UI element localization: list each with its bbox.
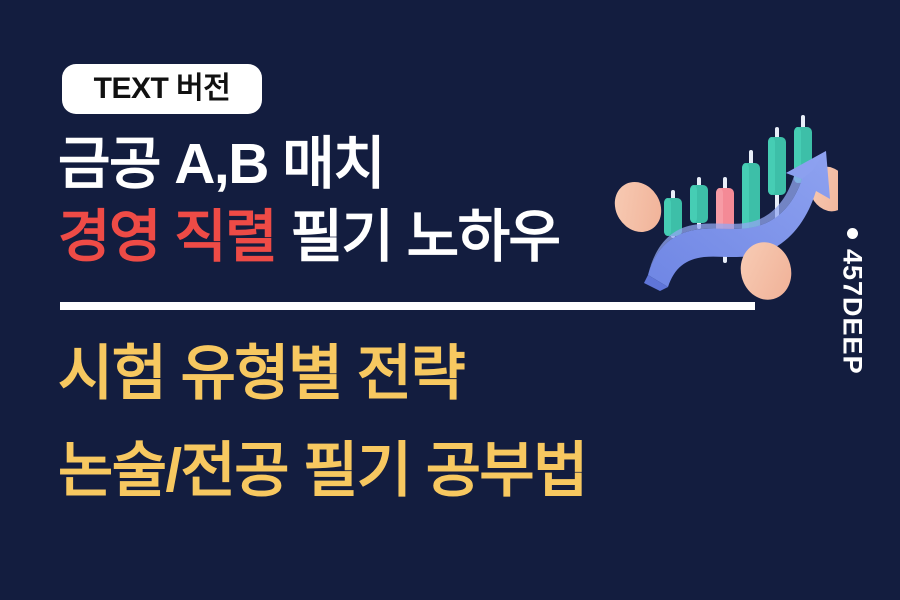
stock-growth-illustration	[598, 105, 838, 300]
peach-blob-icon	[606, 173, 671, 240]
text-version-badge: TEXT 버전	[62, 64, 262, 114]
bullet-dot-icon	[847, 228, 858, 239]
badge-label: TEXT 버전	[94, 74, 231, 104]
subhead-block: 시험 유형별 전략 논술/전공 필기 공부법	[58, 325, 818, 519]
headline-line-2-text: 필기 노하우	[276, 205, 559, 269]
subhead-line-2: 논술/전공 필기 공부법	[58, 422, 818, 519]
subhead-line-1: 시험 유형별 전략	[58, 325, 818, 422]
section-divider	[60, 302, 755, 310]
brand-name: 457DEEP	[839, 249, 866, 375]
thumbnail-canvas: TEXT 버전 금공 A,B 매치 경영 직렬 필기 노하우 시험 유형별 전략…	[0, 0, 900, 600]
headline-line-1-text: 금공 A,B 매치	[58, 132, 384, 196]
headline-accent-text: 경영 직렬	[58, 205, 276, 269]
